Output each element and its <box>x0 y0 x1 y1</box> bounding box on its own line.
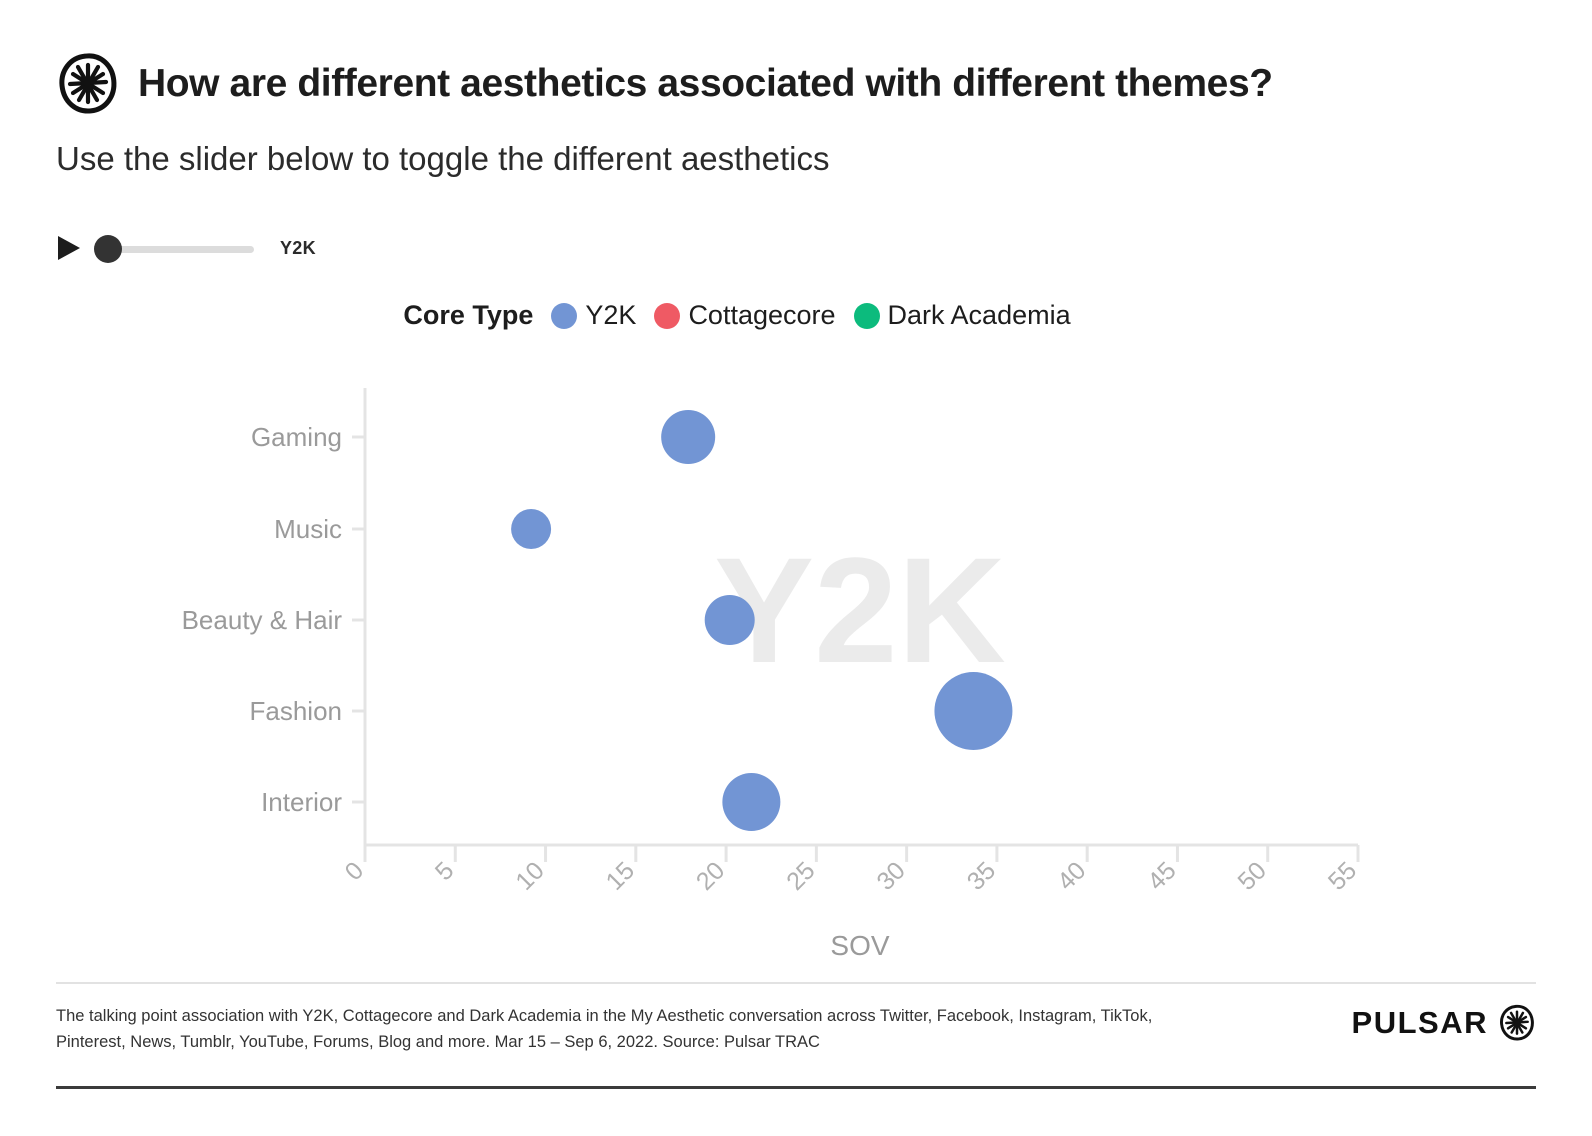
aesthetic-slider-control[interactable]: Y2K <box>56 228 316 268</box>
y-axis-label: Beauty & Hair <box>182 605 343 635</box>
legend-swatch-y2k <box>551 303 577 329</box>
legend-item-dark-academia[interactable]: Dark Academia <box>854 300 1083 331</box>
x-axis-tick-label: 40 <box>1052 856 1091 895</box>
slider-track-area[interactable] <box>94 234 254 262</box>
x-axis-tick-label: 20 <box>691 856 730 895</box>
x-axis-tick-label: 55 <box>1323 856 1362 895</box>
pulsar-asterisk-icon <box>56 52 120 116</box>
footer-source-note: The talking point association with Y2K, … <box>56 1004 1326 1055</box>
footer-divider <box>56 982 1536 984</box>
y-axis-ticks: GamingMusicBeauty & HairFashionInterior <box>182 422 365 817</box>
legend-label-y2k: Y2K <box>585 300 636 331</box>
pulsar-wordmark: PULSAR <box>1352 1005 1488 1041</box>
footer-line-2: Pinterest, News, Tumblr, YouTube, Forums… <box>56 1030 1326 1056</box>
page-title: How are different aesthetics associated … <box>138 62 1273 106</box>
play-icon[interactable] <box>56 234 82 262</box>
x-axis-title: SOV <box>830 930 889 961</box>
y-axis-label: Music <box>274 514 342 544</box>
x-axis-tick-label: 15 <box>601 856 640 895</box>
data-bubble[interactable] <box>722 773 780 831</box>
x-axis-ticks: 0510152025303540455055 <box>340 845 1363 896</box>
slider-value-label: Y2K <box>280 238 316 259</box>
legend-item-y2k[interactable]: Y2K <box>551 300 648 331</box>
y-axis-label: Fashion <box>250 696 343 726</box>
slide-canvas: How are different aesthetics associated … <box>0 0 1592 1136</box>
page-subtitle: Use the slider below to toggle the diffe… <box>56 140 830 178</box>
data-bubble[interactable] <box>705 595 755 645</box>
x-axis-tick-label: 45 <box>1142 856 1181 895</box>
header: How are different aesthetics associated … <box>56 52 1536 116</box>
slider-handle[interactable] <box>94 235 122 263</box>
y-axis-label: Gaming <box>251 422 342 452</box>
chart-watermark: Y2K <box>714 526 1006 694</box>
x-axis-tick-label: 50 <box>1233 856 1272 895</box>
bubble-series <box>511 410 1012 831</box>
legend-label-dark-academia: Dark Academia <box>888 300 1071 331</box>
legend-item-cottagecore[interactable]: Cottagecore <box>654 300 847 331</box>
x-axis-tick-label: 35 <box>962 856 1001 895</box>
footer-line-1: The talking point association with Y2K, … <box>56 1004 1326 1030</box>
y-axis-label: Interior <box>261 787 342 817</box>
x-axis-tick-label: 25 <box>781 856 820 895</box>
legend-title: Core Type <box>403 300 533 331</box>
x-axis-tick-label: 5 <box>430 856 460 886</box>
pulsar-logo: PULSAR <box>1352 1004 1536 1042</box>
x-axis-tick-label: 10 <box>510 856 549 895</box>
x-axis-tick-label: 30 <box>871 856 910 895</box>
bottom-rule <box>56 1086 1536 1089</box>
legend-swatch-dark-academia <box>854 303 880 329</box>
data-bubble[interactable] <box>934 672 1012 750</box>
legend-label-cottagecore: Cottagecore <box>688 300 835 331</box>
slider-track[interactable] <box>108 246 254 253</box>
chart-legend: Core Type Y2K Cottagecore Dark Academia <box>0 300 1592 331</box>
data-bubble[interactable] <box>511 509 551 549</box>
x-axis-tick-label: 0 <box>340 856 370 886</box>
data-bubble[interactable] <box>661 410 715 464</box>
pulsar-asterisk-icon <box>1498 1004 1536 1042</box>
legend-swatch-cottagecore <box>654 303 680 329</box>
